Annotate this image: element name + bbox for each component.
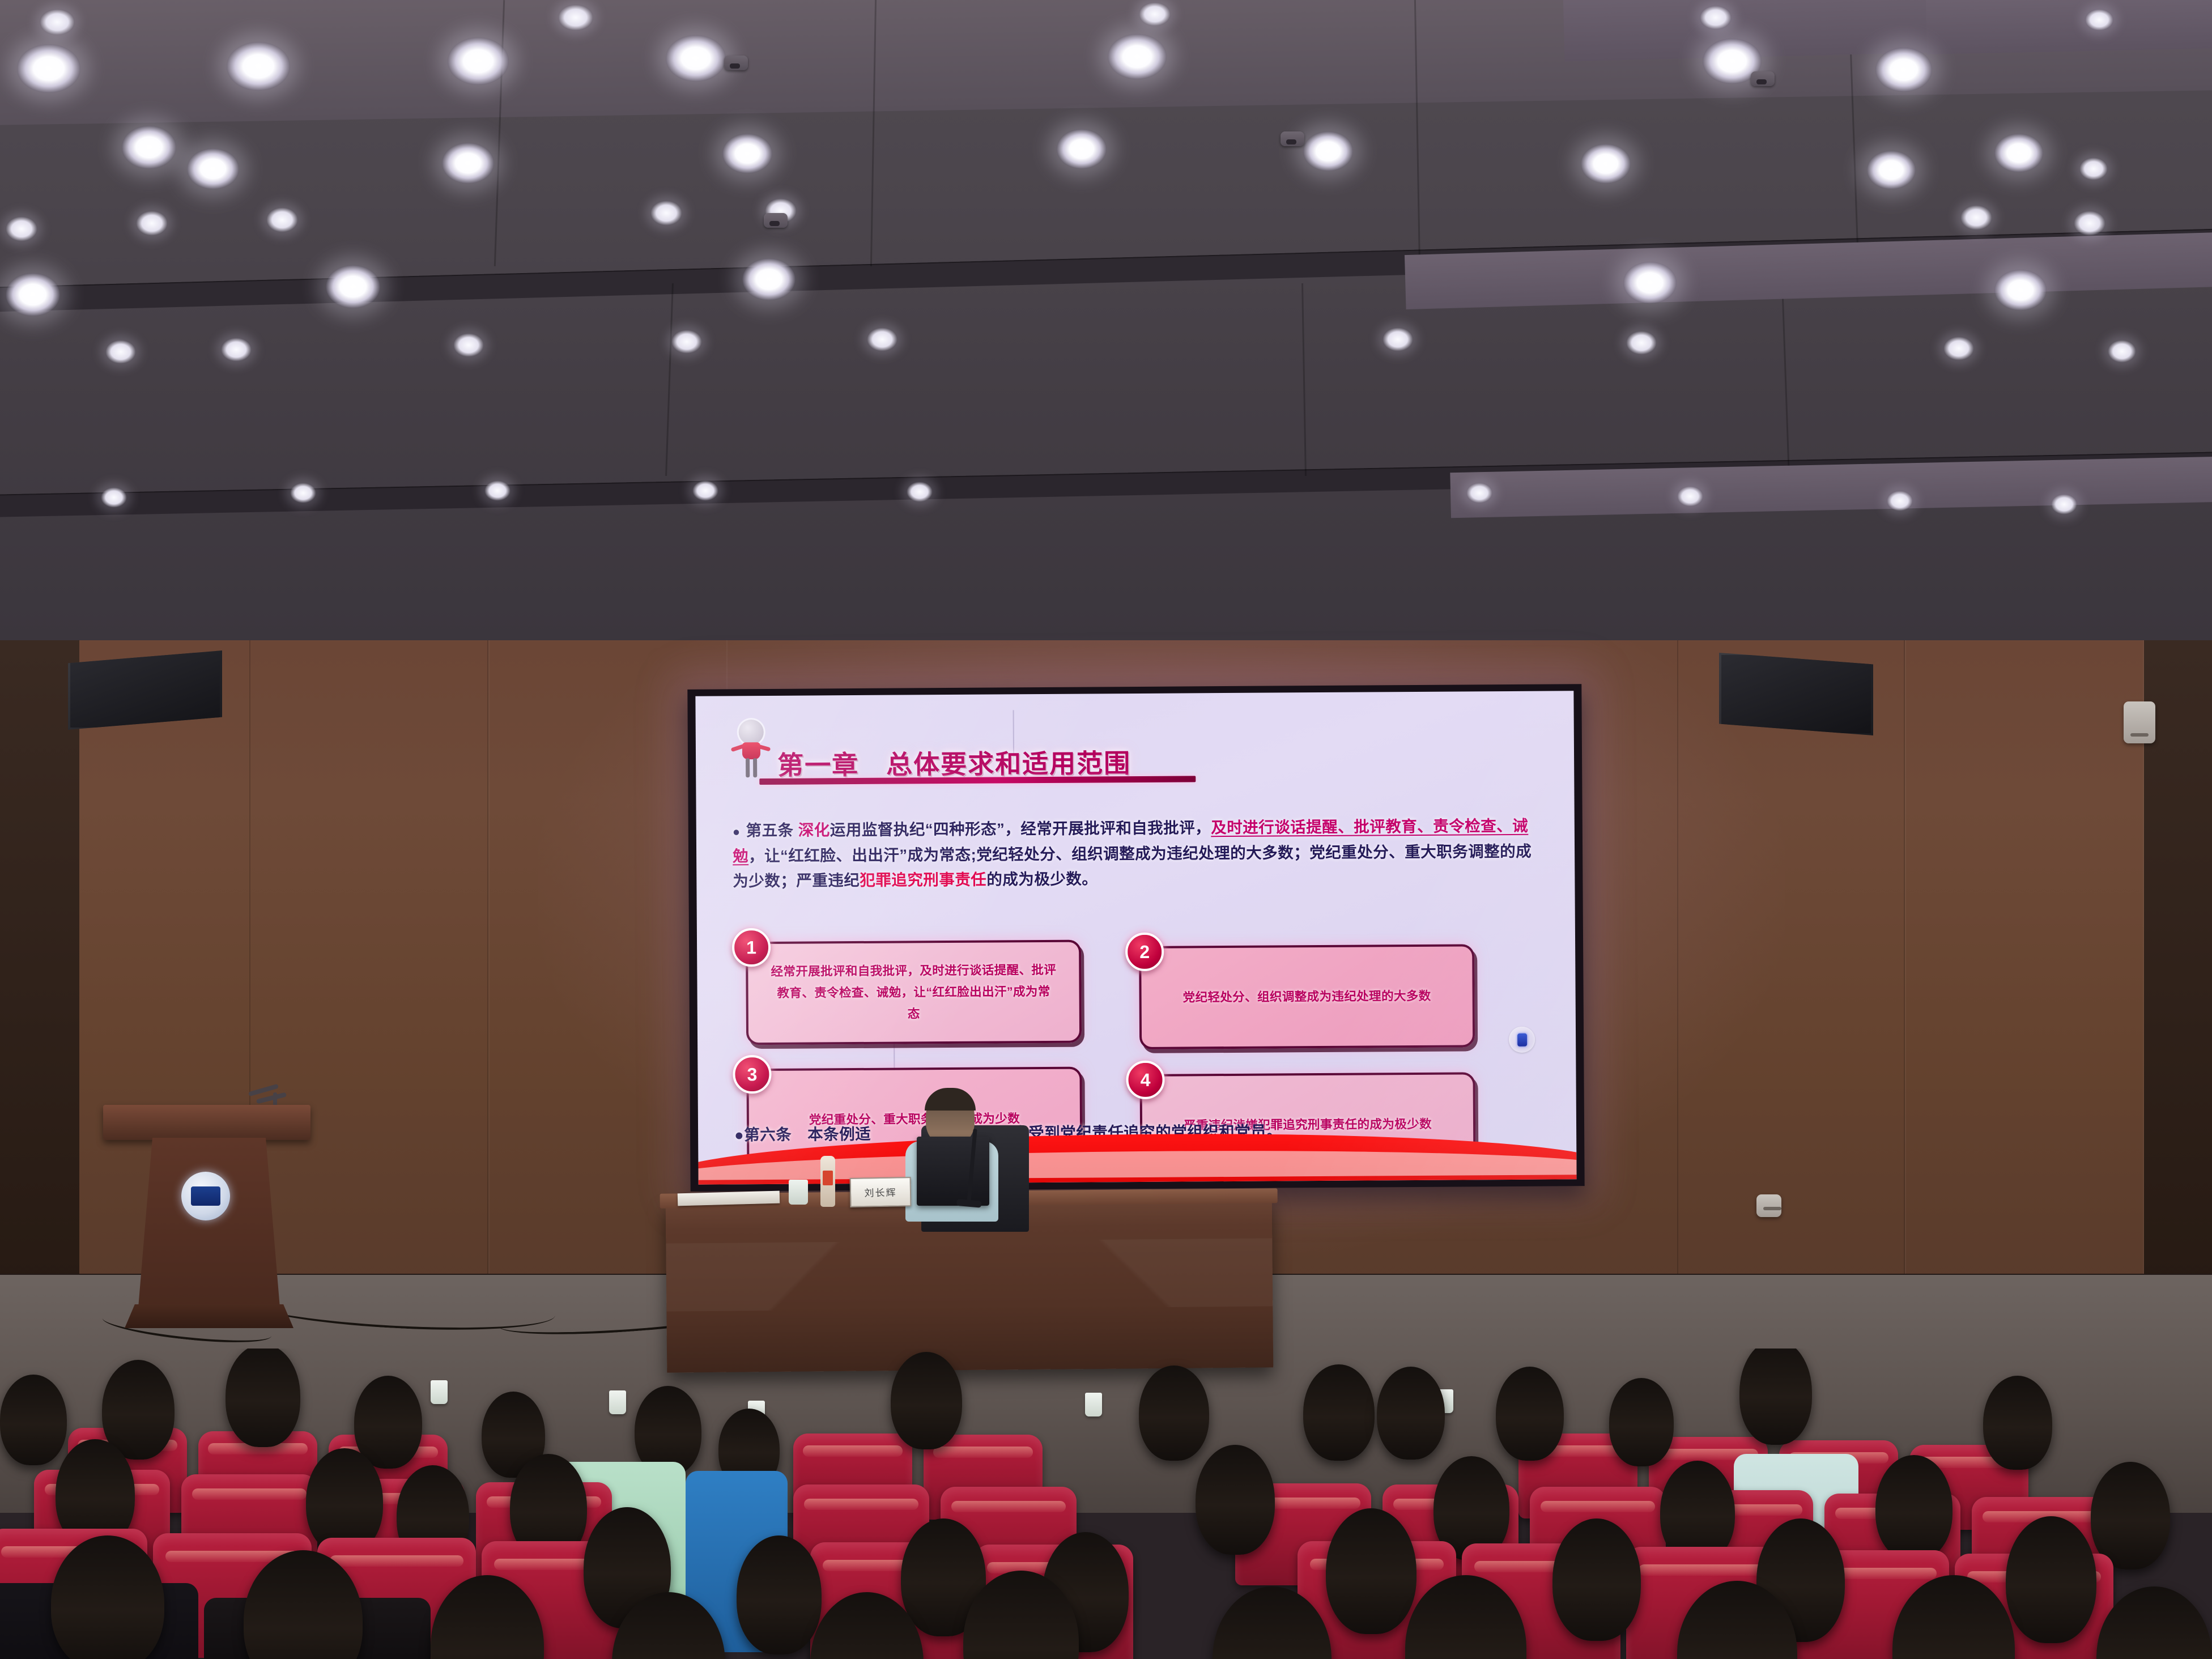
wall-right-shadow xyxy=(2144,640,2212,1377)
recessed-downlight xyxy=(2108,340,2136,363)
recessed-downlight xyxy=(2074,211,2105,236)
recessed-downlight xyxy=(448,37,509,85)
recessed-downlight xyxy=(1960,205,1992,230)
smoke-detector-icon xyxy=(764,213,788,228)
audience-head xyxy=(1326,1508,1416,1634)
recessed-downlight xyxy=(484,480,511,501)
slide-body-segment-2: 运用监督执纪“四种形态”，经常开展批评和自我批评， xyxy=(830,819,1211,839)
wall-outlet-plate[interactable] xyxy=(1756,1194,1781,1217)
recessed-downlight xyxy=(101,487,127,508)
slide-body-segment-0: 第五条 xyxy=(746,822,798,840)
slide-body-paragraph: ●第五条 深化运用监督执纪“四种形态”，经常开展批评和自我批评，及时进行谈话提醒… xyxy=(733,814,1543,894)
recessed-downlight xyxy=(122,126,176,169)
audience-head xyxy=(1196,1445,1275,1555)
recessed-downlight xyxy=(1303,131,1353,171)
slide-title-row: 第一章 总体要求和适用范围 xyxy=(735,717,1131,779)
audience-head xyxy=(1983,1376,2052,1470)
paper-cup xyxy=(789,1180,808,1205)
laptop[interactable] xyxy=(917,1137,989,1206)
recessed-downlight xyxy=(1382,327,1413,351)
recessed-downlight xyxy=(1108,34,1167,79)
slide-box-2-badge: 2 xyxy=(1125,933,1164,971)
smoke-detector-icon xyxy=(1751,71,1775,86)
lectern-podium xyxy=(113,1105,300,1343)
slide-box-4-badge: 4 xyxy=(1126,1061,1164,1099)
recessed-downlight xyxy=(2085,9,2113,31)
recessed-downlight xyxy=(1887,491,1913,511)
recessed-downlight xyxy=(6,216,37,241)
institution-seal-icon xyxy=(181,1172,230,1220)
recessed-downlight xyxy=(326,265,380,308)
cartoon-person-icon xyxy=(735,720,768,779)
recessed-downlight xyxy=(1994,134,2043,172)
slide-box-3-badge: 3 xyxy=(733,1055,771,1094)
nameplate-text: 刘长辉 xyxy=(851,1184,910,1199)
recessed-downlight xyxy=(453,333,484,357)
audience-head xyxy=(737,1535,822,1654)
wall-outlet-plate[interactable] xyxy=(2124,701,2155,743)
recessed-downlight xyxy=(17,44,80,93)
slide-title: 第一章 总体要求和适用范围 xyxy=(777,750,1131,779)
recessed-downlight xyxy=(2079,158,2108,180)
recessed-downlight xyxy=(1466,483,1492,503)
audience-head xyxy=(1609,1378,1674,1466)
projection-screen: 第一章 总体要求和适用范围 ●第五条 深化运用监督执纪“四种形态”，经常开展批评… xyxy=(687,684,1584,1192)
paper-cup xyxy=(431,1380,448,1404)
wall-speaker-right xyxy=(1719,653,1873,735)
audience-head xyxy=(891,1352,962,1449)
audience-head xyxy=(2091,1462,2170,1569)
recessed-downlight xyxy=(666,35,726,82)
audience-head xyxy=(2096,1586,2212,1659)
wall-left-shadow xyxy=(0,640,79,1377)
audience-head xyxy=(354,1376,422,1469)
recessed-downlight xyxy=(266,207,298,232)
slide-box-1: 经常开展批评和自我批评，及时进行谈话提醒、批评教育、责令检查、诫勉，让“红红脸出… xyxy=(746,940,1082,1045)
water-bottle xyxy=(820,1156,835,1207)
recessed-downlight xyxy=(221,338,252,361)
recessed-downlight xyxy=(1943,337,1974,360)
recessed-downlight xyxy=(1994,270,2047,310)
audience-head xyxy=(1139,1366,1209,1461)
slide-body-segment-6: 的成为极少数。 xyxy=(986,870,1098,888)
audience-head xyxy=(1552,1518,1641,1641)
recessed-downlight xyxy=(1057,129,1107,169)
recessed-downlight xyxy=(1677,486,1703,507)
audience-head xyxy=(1496,1367,1564,1461)
slide-box-1-badge: 1 xyxy=(732,928,771,967)
recessed-downlight xyxy=(1581,144,1631,184)
bullet-icon: ● xyxy=(733,824,741,839)
slide-box-2: 党纪轻处分、组织调整成为违纪处理的大多数 xyxy=(1139,944,1475,1049)
recessed-downlight xyxy=(1139,2,1171,26)
nameplate: 刘长辉 xyxy=(850,1177,912,1207)
audience-head xyxy=(1739,1349,1812,1445)
recessed-downlight xyxy=(907,482,933,502)
audience-head xyxy=(0,1375,67,1465)
blue-pin-icon[interactable] xyxy=(1509,1027,1535,1053)
recessed-downlight xyxy=(1700,6,1732,29)
slide-body-segment-1: 深化 xyxy=(798,821,830,839)
audience-head xyxy=(1377,1367,1445,1460)
recessed-downlight xyxy=(558,5,593,31)
wall-speaker-left xyxy=(68,650,222,730)
slide-body-segment-5: 犯罪追究刑事责任 xyxy=(860,871,986,889)
lecture-hall-photo: 第一章 总体要求和适用范围 ●第五条 深化运用监督执纪“四种形态”，经常开展批评… xyxy=(0,0,2212,1659)
presentation-slide: 第一章 总体要求和适用范围 ●第五条 深化运用监督执纪“四种形态”，经常开展批评… xyxy=(695,691,1576,1184)
slide-box-2-text: 党纪轻处分、组织调整成为违纪处理的大多数 xyxy=(1183,985,1431,1009)
audience-area xyxy=(0,1349,2212,1659)
recessed-downlight xyxy=(2051,494,2077,514)
recessed-downlight xyxy=(722,134,772,173)
smoke-detector-icon xyxy=(724,56,748,70)
recessed-downlight xyxy=(105,340,136,364)
recessed-downlight xyxy=(1623,262,1677,304)
recessed-downlight xyxy=(742,258,796,300)
recessed-downlight xyxy=(692,480,718,501)
paper-cup xyxy=(609,1390,626,1414)
smoke-detector-icon xyxy=(1281,131,1304,146)
recessed-downlight xyxy=(1626,331,1657,355)
slide-box-1-text: 经常开展批评和自我批评，及时进行谈话提醒、批评教育、责令检查、诫勉，让“红红脸出… xyxy=(771,959,1057,1026)
recessed-downlight xyxy=(290,483,316,503)
recessed-downlight xyxy=(1875,48,1932,92)
slide-body-segment-4: ，让“红红脸、出出汗”成为常态;党纪轻处分、组织调整成为违纪处理的大多数；党纪重… xyxy=(733,842,1532,890)
recessed-downlight xyxy=(671,330,702,354)
audience-head xyxy=(2006,1516,2096,1643)
recessed-downlight xyxy=(136,211,168,236)
recessed-downlight xyxy=(867,327,897,351)
recessed-downlight xyxy=(6,273,60,316)
recessed-downlight xyxy=(1867,151,1916,189)
recessed-downlight xyxy=(187,148,239,189)
audience-head xyxy=(1875,1455,1952,1560)
recessed-downlight xyxy=(442,143,494,184)
recessed-downlight xyxy=(227,42,290,91)
recessed-downlight xyxy=(650,201,682,226)
paper-stack xyxy=(678,1191,780,1206)
audience-head xyxy=(1303,1364,1375,1461)
paper-cup xyxy=(1085,1393,1102,1416)
audience-head xyxy=(226,1349,300,1447)
ceiling xyxy=(0,0,2212,669)
recessed-downlight xyxy=(40,9,75,35)
